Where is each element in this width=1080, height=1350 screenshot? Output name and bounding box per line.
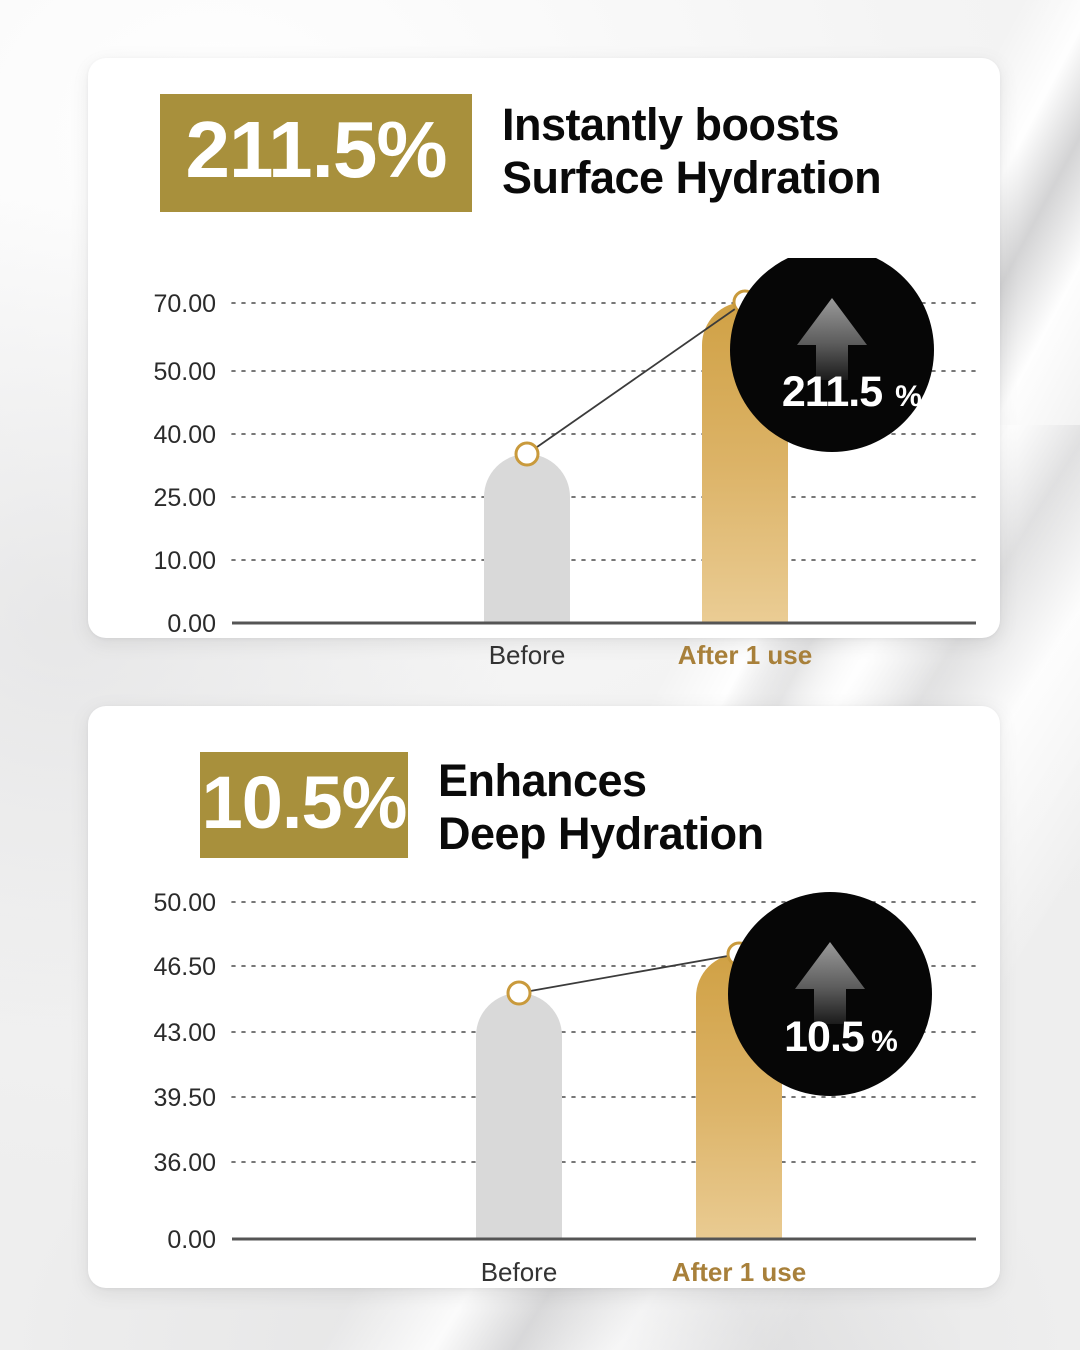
- y-tick-label: 25.00: [153, 484, 216, 512]
- y-tick-label: 50.00: [153, 358, 216, 386]
- percent-highlight-badge: 211.5%: [160, 94, 472, 212]
- y-tick-label: 39.50: [153, 1084, 216, 1112]
- bar-before: [484, 454, 570, 664]
- x-tick-label-before: Before: [489, 640, 566, 668]
- card-headline: Instantly boosts Surface Hydration: [502, 98, 881, 204]
- badge-value: 10.5: [784, 1013, 864, 1061]
- card-header: 10.5% Enhances Deep Hydration: [200, 752, 764, 860]
- y-tick-label: 0.00: [167, 1226, 216, 1254]
- badge-unit: %: [871, 1025, 897, 1058]
- y-tick-label: 40.00: [153, 421, 216, 449]
- infographic-stage: 211.5% Instantly boosts Surface Hydratio…: [0, 0, 1080, 1350]
- y-tick-label: 46.50: [153, 953, 216, 981]
- y-tick-label: 43.00: [153, 1019, 216, 1047]
- x-tick-label-after: After 1 use: [678, 640, 812, 668]
- increase-badge: 10.5 %: [728, 892, 932, 1096]
- y-axis-tick-labels: 50.00 46.50 43.00 39.50 36.00 0.00: [153, 889, 216, 1254]
- chart-svg: 70.00 50.00 40.00 25.00 10.00 0.00: [88, 258, 1000, 668]
- card-header: 211.5% Instantly boosts Surface Hydratio…: [160, 94, 881, 212]
- stat-card-surface-hydration: 211.5% Instantly boosts Surface Hydratio…: [88, 58, 1000, 638]
- x-tick-label-after: After 1 use: [672, 1257, 806, 1286]
- chart-svg: 50.00 46.50 43.00 39.50 36.00 0.00: [88, 866, 1000, 1286]
- bar-chart-deep-hydration: 50.00 46.50 43.00 39.50 36.00 0.00: [88, 866, 1000, 1286]
- card-headline: Enhances Deep Hydration: [438, 754, 764, 860]
- y-tick-label: 70.00: [153, 290, 216, 318]
- x-tick-label-before: Before: [481, 1257, 558, 1286]
- y-tick-label: 10.00: [153, 547, 216, 575]
- badge-value: 211.5: [782, 368, 882, 416]
- y-tick-label: 50.00: [153, 889, 216, 917]
- badge-unit: %: [895, 380, 921, 413]
- y-tick-label: 0.00: [167, 610, 216, 638]
- y-tick-label: 36.00: [153, 1149, 216, 1177]
- data-point-marker-before: [508, 982, 530, 1004]
- percent-highlight-badge: 10.5%: [200, 752, 408, 858]
- y-axis-tick-labels: 70.00 50.00 40.00 25.00 10.00 0.00: [153, 290, 216, 638]
- data-point-marker-before: [516, 443, 538, 465]
- stat-card-deep-hydration: 10.5% Enhances Deep Hydration: [88, 706, 1000, 1288]
- bar-chart-surface-hydration: 70.00 50.00 40.00 25.00 10.00 0.00: [88, 258, 1000, 668]
